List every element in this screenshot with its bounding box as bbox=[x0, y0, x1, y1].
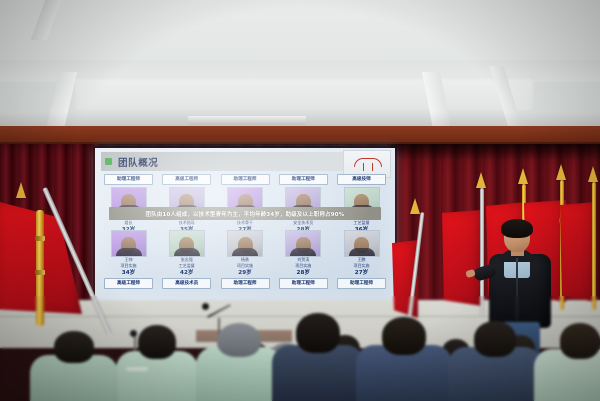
audience-member bbox=[356, 317, 452, 401]
audience-area bbox=[0, 300, 600, 401]
flag-pole-band bbox=[35, 236, 45, 241]
ceiling bbox=[0, 0, 600, 132]
projection-screen-frame bbox=[93, 146, 397, 302]
audience-member bbox=[116, 325, 198, 401]
ceiling-beam-top-left bbox=[31, 0, 62, 40]
flag-pole-band bbox=[35, 270, 45, 275]
presenter-hair bbox=[501, 219, 533, 238]
flag-spear-tip-icon bbox=[518, 168, 528, 184]
flag-spear-tip-icon bbox=[556, 164, 566, 180]
ceiling-recess bbox=[74, 76, 534, 110]
flag-pole-gold bbox=[592, 182, 596, 310]
audience-body bbox=[272, 345, 364, 401]
audience-member bbox=[30, 331, 118, 401]
audience-head bbox=[54, 331, 94, 363]
uniform-stripe bbox=[126, 367, 148, 371]
audience-member bbox=[272, 313, 364, 401]
conference-hall-photo: 团队概况 助理工程师 路江 组长 32岁 高级工程师 刘国所 技术指导 35岁 … bbox=[0, 0, 600, 401]
flag-spear-tip-icon bbox=[410, 198, 420, 214]
audience-head bbox=[138, 325, 176, 359]
audience-head bbox=[382, 317, 426, 355]
audience-member bbox=[448, 321, 542, 401]
audience-member bbox=[534, 323, 600, 401]
flag-cloth bbox=[560, 202, 596, 302]
flag-pole-silver bbox=[480, 188, 484, 316]
flag-spear-tip-icon bbox=[16, 182, 26, 198]
baseball-cap bbox=[217, 323, 261, 357]
flag-spear-tip-icon bbox=[476, 172, 486, 188]
audience-head bbox=[296, 313, 340, 353]
audience-member bbox=[196, 319, 282, 401]
audience-head bbox=[560, 323, 600, 359]
audience-head bbox=[474, 321, 516, 357]
ceremonial-flag-right-4 bbox=[570, 160, 600, 312]
flag-cloth bbox=[442, 210, 482, 306]
flag-spear-tip-icon bbox=[588, 166, 598, 182]
